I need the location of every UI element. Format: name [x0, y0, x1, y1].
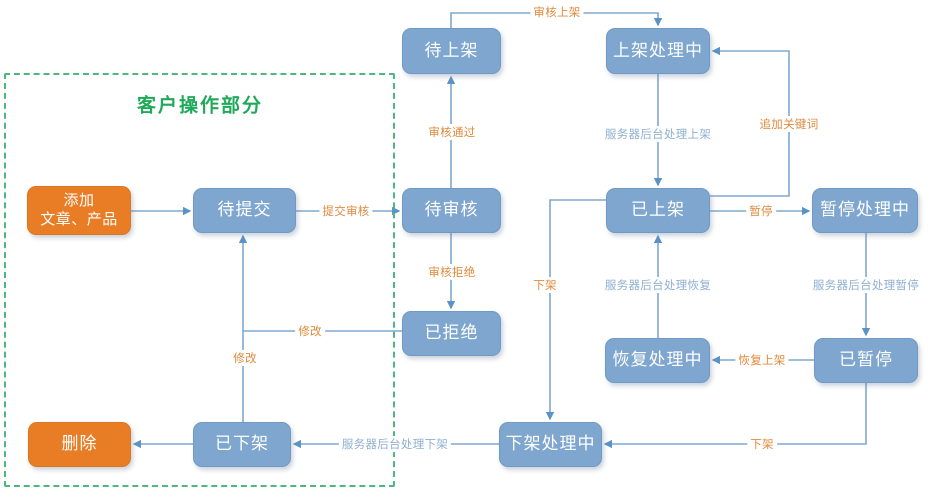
node-shelving-label: 上架处理中	[613, 41, 703, 62]
node-delete[interactable]: 删除	[28, 422, 131, 467]
edge-label-review-shelf: 审核上架	[530, 4, 583, 20]
node-off-shelf[interactable]: 已下架	[193, 422, 291, 467]
edge-label-submit-review: 提交审核	[319, 203, 372, 219]
edge-label-restore-shelf: 恢复上架	[735, 352, 788, 368]
node-unshelving-label: 下架处理中	[506, 434, 596, 455]
node-restoring[interactable]: 恢复处理中	[605, 338, 710, 383]
customer-operation-group-title: 客户操作部分	[137, 91, 263, 118]
node-add-line2: 文章、产品	[40, 211, 118, 228]
node-paused-label: 已暂停	[839, 350, 893, 371]
node-pending-review-label: 待审核	[425, 200, 479, 221]
edge-label-pause: 暂停	[746, 203, 776, 219]
edge-label-server-process-pause: 服务器后台处理暂停	[810, 277, 922, 293]
node-pausing-label: 暂停处理中	[820, 200, 910, 221]
node-on-shelf-label: 已上架	[631, 200, 685, 221]
node-rejected[interactable]: 已拒绝	[402, 311, 501, 356]
node-rejected-label: 已拒绝	[425, 323, 479, 344]
node-delete-label: 删除	[62, 434, 98, 455]
node-restoring-label: 恢复处理中	[613, 350, 703, 371]
edge-paused-to-unshelving	[605, 383, 866, 444]
node-shelving[interactable]: 上架处理中	[606, 28, 710, 74]
node-pending-shelf[interactable]: 待上架	[402, 28, 501, 74]
node-pending-review[interactable]: 待审核	[402, 188, 501, 233]
edge-on-shelf-to-unshelving	[550, 200, 606, 419]
node-on-shelf[interactable]: 已上架	[606, 188, 710, 233]
edge-label-modify-from-offshelf: 修改	[230, 350, 260, 366]
edge-label-modify-from-rejected: 修改	[295, 323, 325, 339]
node-unshelving[interactable]: 下架处理中	[499, 422, 602, 467]
edge-label-server-process-restore: 服务器后台处理恢复	[602, 277, 714, 293]
edge-label-review-pass: 审核通过	[425, 124, 478, 140]
edge-label-unshelf-from-paused: 下架	[747, 436, 777, 452]
node-pausing[interactable]: 暂停处理中	[812, 188, 918, 233]
node-pending-submit[interactable]: 待提交	[193, 188, 296, 233]
node-pending-shelf-label: 待上架	[425, 41, 479, 62]
edge-label-unshelf-from-onshelf: 下架	[530, 277, 560, 293]
node-add[interactable]: 添加 文章、产品	[27, 186, 131, 235]
node-pending-submit-label: 待提交	[218, 200, 272, 221]
flowchart-canvas: 客户操作部分	[0, 0, 935, 494]
edge-label-review-reject: 审核拒绝	[425, 264, 478, 280]
edge-label-add-keyword: 追加关键词	[757, 116, 822, 132]
node-paused[interactable]: 已暂停	[814, 338, 918, 383]
node-add-line1: 添加	[63, 192, 94, 209]
edge-label-server-process-unshelf: 服务器后台处理下架	[339, 436, 451, 452]
node-off-shelf-label: 已下架	[215, 434, 269, 455]
edge-label-server-process-shelf: 服务器后台处理上架	[602, 126, 714, 142]
